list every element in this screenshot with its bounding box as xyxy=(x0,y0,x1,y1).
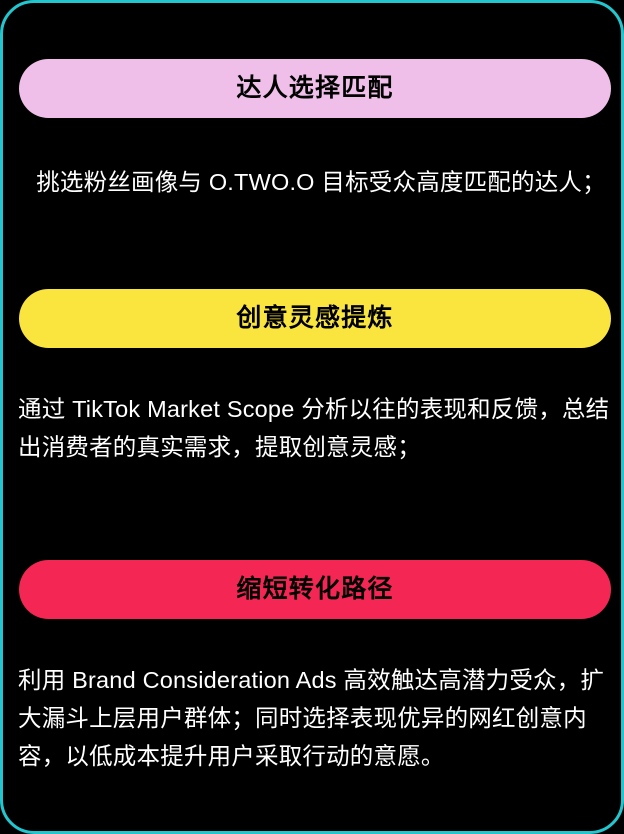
body-text-talent-selection-matching: 挑选粉丝画像与 O.TWO.O 目标受众高度匹配的达人； xyxy=(31,163,611,201)
banner-label-shorten-conversion-path: 缩短转化路径 xyxy=(236,577,393,602)
banner-label-creative-inspiration-extraction: 创意灵感提炼 xyxy=(236,306,393,331)
banner-label-talent-selection-matching: 达人选择匹配 xyxy=(236,76,393,101)
banner-creative-inspiration-extraction: 创意灵感提炼 xyxy=(19,289,611,348)
banner-shorten-conversion-path: 缩短转化路径 xyxy=(19,560,611,619)
info-card: 达人选择匹配 挑选粉丝画像与 O.TWO.O 目标受众高度匹配的达人； 创意灵感… xyxy=(0,0,624,834)
body-text-shorten-conversion-path: 利用 Brand Consideration Ads 高效触达高潜力受众，扩大漏… xyxy=(18,661,618,775)
banner-talent-selection-matching: 达人选择匹配 xyxy=(19,59,611,118)
body-text-creative-inspiration-extraction: 通过 TikTok Market Scope 分析以往的表现和反馈，总结出消费者… xyxy=(18,390,618,466)
